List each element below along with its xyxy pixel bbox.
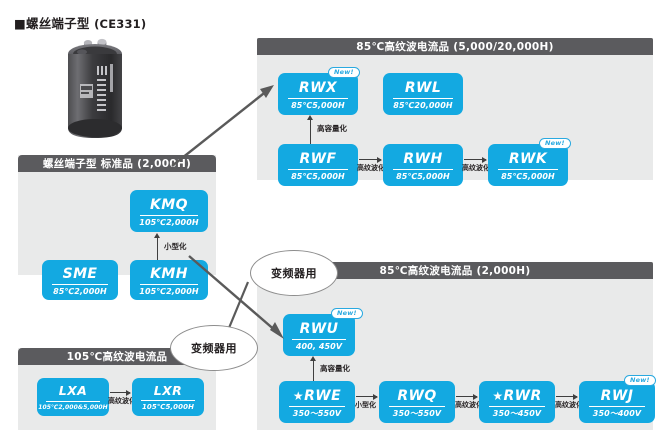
title-code: (CE331)	[94, 17, 146, 31]
star-icon: ★	[492, 390, 503, 402]
part-rwh[interactable]: RWH 85℃5,000H	[383, 144, 463, 186]
diagram-root: ■螺丝端子型 (CE331)	[0, 0, 656, 442]
part-lxa-name: LXA	[59, 385, 87, 398]
star-icon: ★	[293, 390, 304, 402]
arrow-rwq-to-rwr	[456, 396, 477, 397]
part-rwe-spec: 350～550V	[293, 410, 341, 418]
part-sme-spec: 85℃2,000H	[53, 288, 107, 296]
new-badge-rwx: New!	[328, 67, 360, 78]
part-sme[interactable]: SME 85℃2,000H	[42, 260, 118, 300]
part-rwe-label: RWE	[304, 389, 341, 403]
arrow-rwe-to-rwq	[356, 396, 377, 397]
part-rwj-name: RWJ	[601, 389, 634, 403]
callout-lower-label: 变频器用	[191, 340, 237, 356]
part-rwr-name: ★RWR	[492, 389, 541, 403]
part-rwx-spec: 85℃5,000H	[291, 102, 345, 110]
part-rwx-name: RWX	[299, 81, 337, 95]
title-bullet: ■	[14, 16, 26, 31]
panel-ripple85-2k-title: 85℃高纹波电流品 (2,000H)	[380, 263, 531, 278]
part-lxr[interactable]: LXR 105℃5,000H	[132, 378, 204, 416]
part-kmh-name: KMH	[150, 267, 188, 281]
part-rwe-name: ★RWE	[293, 389, 341, 403]
part-divider	[141, 400, 194, 401]
part-divider	[46, 401, 99, 402]
part-kmq-name: KMQ	[150, 198, 188, 212]
arrow-lxa-to-lxr	[110, 392, 130, 393]
arrow-label-high-capacity-2: 高容量化	[320, 363, 350, 374]
arrow-rwe-to-rwu	[313, 361, 314, 381]
part-rwh-spec: 85℃5,000H	[396, 173, 450, 181]
new-badge-rwj: New!	[624, 375, 656, 386]
part-rwj[interactable]: RWJ 350～400V	[579, 381, 655, 423]
connector-arrow-standard-to-ripple85	[170, 80, 280, 170]
part-sme-name: SME	[63, 267, 98, 281]
part-rwk[interactable]: RWK 85℃5,000H	[488, 144, 568, 186]
arrow-rwf-to-rwx	[310, 120, 311, 144]
panel-ripple85-5k20k-header: 85℃高纹波电流品 (5,000/20,000H)	[257, 38, 653, 55]
arrow-rwr-to-rwj	[556, 396, 577, 397]
part-rwf-name: RWF	[300, 152, 337, 166]
part-divider	[52, 284, 108, 285]
title-text: 螺丝端子型	[26, 16, 90, 31]
part-divider	[393, 98, 452, 99]
callout-inverter-use-lower: 变频器用	[170, 325, 258, 371]
part-rwf[interactable]: RWF 85℃5,000H	[278, 144, 358, 186]
part-rwu-name: RWU	[300, 322, 339, 336]
callout-upper-label: 变频器用	[271, 265, 317, 281]
arrow-kmh-to-kmq	[157, 238, 158, 260]
part-rwr[interactable]: ★RWR 350～450V	[479, 381, 555, 423]
arrow-label-miniaturize-1: 小型化	[164, 241, 187, 252]
arrow-label-high-ripple-1: 高纹波化	[357, 163, 385, 173]
part-lxa-spec: 105℃2,000&5,000H	[38, 405, 108, 411]
part-rwr-label: RWR	[503, 389, 541, 403]
part-divider	[393, 169, 452, 170]
part-divider	[140, 215, 198, 216]
part-divider	[389, 406, 445, 407]
part-divider	[498, 169, 557, 170]
panel-ripple105-body: LXA 105℃2,000&5,000H 高纹波化 LXR 105℃5,000H	[18, 365, 216, 430]
part-lxa[interactable]: LXA 105℃2,000&5,000H	[37, 378, 109, 416]
part-rwq-name: RWQ	[397, 389, 436, 403]
part-lxr-spec: 105℃5,000H	[142, 404, 194, 411]
page-title: ■螺丝端子型 (CE331)	[14, 13, 146, 32]
part-divider	[288, 169, 347, 170]
part-rwr-spec: 350～450V	[493, 410, 541, 418]
part-kmq[interactable]: KMQ 105℃2,000H	[130, 190, 208, 232]
new-badge-rwk: New!	[539, 138, 571, 149]
part-kmq-spec: 105℃2,000H	[139, 219, 198, 227]
panel-ripple85-5k20k-title: 85℃高纹波电流品 (5,000/20,000H)	[356, 39, 553, 54]
part-divider	[289, 406, 345, 407]
part-rwq-spec: 350～550V	[393, 410, 441, 418]
new-badge-rwu: New!	[331, 308, 363, 319]
panel-ripple105-title: 105℃高纹波电流品	[67, 349, 168, 364]
arrow-label-high-ripple-2: 高纹波化	[462, 163, 490, 173]
arrow-label-high-capacity-1: 高容量化	[317, 123, 347, 134]
part-rwx[interactable]: RWX 85℃5,000H	[278, 73, 358, 115]
panel-standard-title: 螺丝端子型 标准品 (2,000H)	[43, 156, 191, 171]
part-lxr-name: LXR	[154, 385, 182, 398]
panel-ripple85-5k20k: 85℃高纹波电流品 (5,000/20,000H) RWX 85℃5,000H …	[257, 38, 653, 180]
screw-terminal-capacitor-photo	[52, 32, 138, 152]
part-rwf-spec: 85℃5,000H	[291, 173, 345, 181]
panel-ripple85-2k-body: RWU 400, 450V New! 高容量化 ★RWE 350～550V 小型…	[257, 279, 653, 430]
part-rwl-name: RWL	[405, 81, 441, 95]
part-divider	[292, 339, 345, 340]
part-rwk-name: RWK	[509, 152, 547, 166]
part-divider	[489, 406, 545, 407]
part-rwl-spec: 85℃20,000H	[393, 102, 452, 110]
part-rwq[interactable]: RWQ 350～550V	[379, 381, 455, 423]
part-rwe[interactable]: ★RWE 350～550V	[279, 381, 355, 423]
arrow-rwh-to-rwk	[464, 159, 486, 160]
part-rwh-name: RWH	[403, 152, 442, 166]
part-rwj-spec: 350～400V	[593, 410, 641, 418]
part-rwk-spec: 85℃5,000H	[501, 173, 555, 181]
part-rwu-spec: 400, 450V	[296, 343, 342, 351]
panel-ripple85-5k20k-body: RWX 85℃5,000H New! RWL 85℃20,000H 高容量化 R…	[257, 55, 653, 180]
part-rwl[interactable]: RWL 85℃20,000H	[383, 73, 463, 115]
arrow-rwf-to-rwh	[359, 159, 381, 160]
part-divider	[589, 406, 645, 407]
arrow-label-miniaturize-2: 小型化	[355, 400, 376, 410]
callout-inverter-use-upper: 变频器用	[250, 250, 338, 296]
part-divider	[288, 98, 347, 99]
